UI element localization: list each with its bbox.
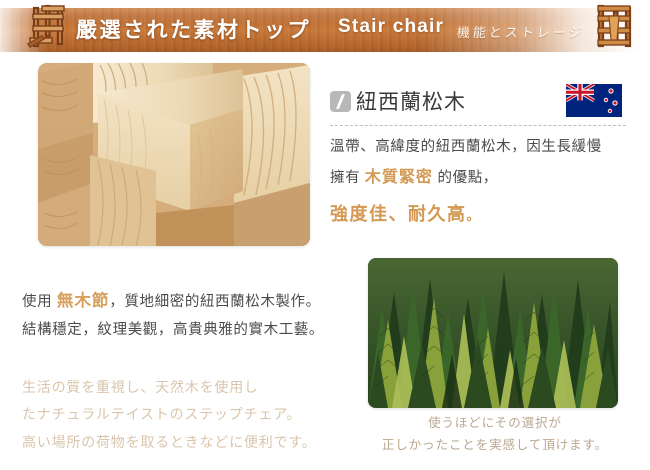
description-line-2: 結構穩定，紋理美觀，高貴典雅的實木工藝。 bbox=[22, 317, 332, 345]
japanese-line-1: 生活の質を重視し、天然木を使用し bbox=[22, 375, 342, 402]
description-block-japanese: 生活の質を重視し、天然木を使用し たナチュラルテイストのステップチェア。 高い場… bbox=[22, 375, 342, 457]
material-body-line-1: 溫帶、高緯度的紐西蘭松木，因生長緩慢 bbox=[330, 138, 630, 156]
description-line-1: 使用 無木節，質地細密的紐西蘭松木製作。 bbox=[22, 286, 332, 317]
number-badge-icon bbox=[330, 91, 351, 112]
title-english: Stair chair bbox=[338, 16, 444, 38]
description-line-1-post: ，質地細密的紐西蘭松木製作。 bbox=[109, 294, 320, 310]
description-line-1-highlight: 無木節 bbox=[57, 292, 110, 310]
material-body-line-2-pre: 擁有 bbox=[330, 170, 360, 186]
material-strength-period: 。 bbox=[467, 208, 482, 223]
material-body-line-2-post: 的優點， bbox=[438, 170, 498, 186]
japanese-line-2: たナチュラルテイストのステップチェア。 bbox=[22, 402, 342, 429]
wood-closeup-image bbox=[38, 63, 310, 246]
stair-chair-icon-right bbox=[590, 0, 644, 52]
forest-caption-line-2: 正しかったことを実感して頂けます。 bbox=[355, 434, 635, 456]
material-heading-row: 紐西蘭松木 bbox=[330, 86, 630, 116]
forest-caption: 使うほどにその選択が 正しかったことを実感して頂けます。 bbox=[355, 412, 635, 456]
description-line-1-pre: 使用 bbox=[22, 294, 52, 310]
forest-caption-line-1: 使うほどにその選択が bbox=[355, 412, 635, 434]
material-body-highlight: 木質緊密 bbox=[365, 169, 433, 186]
section-divider bbox=[330, 125, 626, 126]
material-strength-claim: 強度佳、耐久高。 bbox=[330, 200, 630, 226]
pine-forest-image bbox=[368, 258, 618, 408]
description-block-chinese: 使用 無木節，質地細密的紐西蘭松木製作。 結構穩定，紋理美觀，高貴典雅的實木工藝… bbox=[22, 286, 332, 345]
new-zealand-flag-icon bbox=[566, 84, 622, 117]
page-title: 嚴選された素材トップ bbox=[76, 14, 311, 44]
stair-chair-icon-left bbox=[24, 0, 78, 52]
material-strength-text: 強度佳、耐久高 bbox=[330, 204, 467, 224]
japanese-line-3: 高い場所の荷物を取るときなどに便利です。 bbox=[22, 430, 342, 457]
material-info-panel: 紐西蘭松木 bbox=[330, 86, 630, 226]
material-body-line-2: 擁有 木質緊密 的優點， bbox=[330, 168, 630, 188]
title-japanese-subtitle: 機能とストレージ bbox=[456, 22, 586, 41]
material-title: 紐西蘭松木 bbox=[356, 86, 466, 116]
